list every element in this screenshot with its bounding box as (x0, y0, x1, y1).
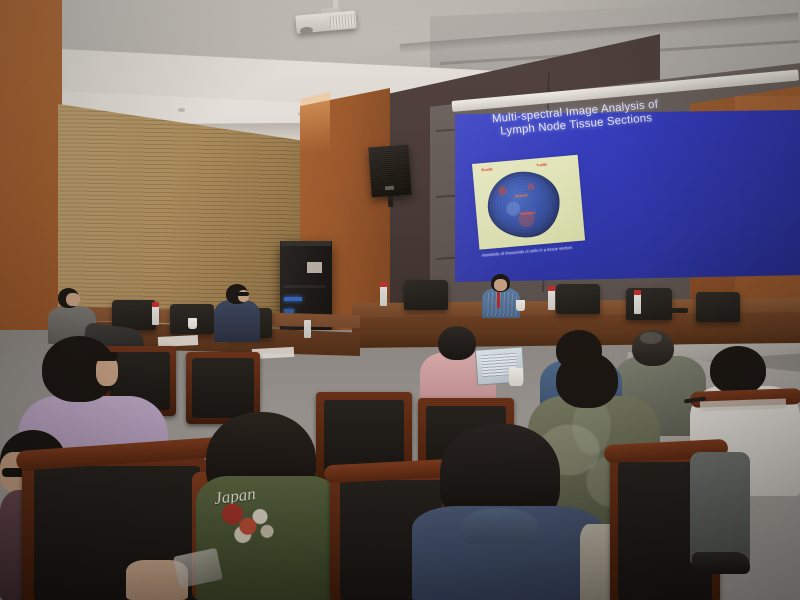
ceiling-smoke-detector (178, 108, 185, 112)
hair-bun (566, 348, 602, 374)
head-table-chair (696, 292, 740, 322)
wall-speaker-grille (372, 149, 408, 191)
screen-glare (455, 110, 800, 282)
wall-pillar-highlight (300, 92, 330, 152)
bottle-cap (380, 282, 387, 287)
water-bottle (634, 294, 641, 314)
projector-vent (329, 14, 356, 29)
av-rack-led-indicator (284, 297, 302, 301)
speaker-lanyard (497, 292, 500, 308)
head-table-chair (404, 280, 448, 310)
av-rack-slot (284, 285, 326, 288)
balding-highlight (640, 332, 662, 344)
eyeglasses (88, 352, 118, 361)
paper-cup (188, 318, 197, 329)
attendee-dark-jacket-torso (214, 300, 260, 342)
bottle-cap (548, 286, 555, 291)
water-bottle (548, 290, 555, 310)
attendee-pink-top-head (438, 326, 476, 360)
water-bottle (380, 286, 387, 306)
attendee-shoe (692, 552, 750, 574)
head-table-chair (556, 284, 600, 314)
speaker-shirt-stripes (484, 292, 518, 316)
av-rack-top (281, 241, 331, 246)
av-rack-label (307, 262, 322, 273)
bottle-cap (634, 290, 641, 295)
eyeglasses (236, 292, 249, 296)
desk-microphone-base (666, 308, 688, 313)
wall-speaker-logo (385, 186, 394, 191)
vest-collar (462, 508, 538, 544)
paper-cup (509, 368, 523, 386)
speaker-face (494, 279, 507, 291)
av-rack-led-indicator (284, 309, 294, 313)
attendee-white-tshirt-head (710, 346, 766, 394)
attendee-trousers-leg (690, 452, 750, 564)
head-table-chair (626, 288, 672, 320)
attendee-grey-shirt-face (66, 293, 80, 306)
water-bottle (304, 320, 311, 338)
lecture-room-photo: Multi-spectral Image Analysis of Lymph N… (0, 0, 800, 600)
bottle-cap (152, 302, 159, 307)
wall-speaker-bracket (388, 196, 394, 207)
seat-upholstery (192, 358, 254, 418)
water-bottle (152, 306, 159, 325)
japan-jacket-floral-embroidery (214, 497, 290, 551)
paper-cup (516, 300, 525, 311)
